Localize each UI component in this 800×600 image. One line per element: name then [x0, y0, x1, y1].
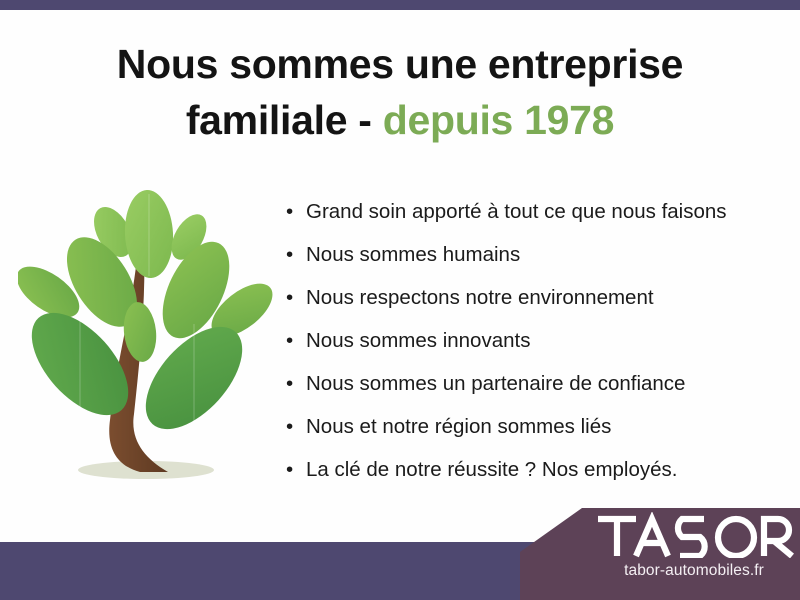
slide-canvas: Nous sommes une entreprise familiale - d…	[0, 0, 800, 600]
tabor-logo-tagline: tabor-automobiles.fr	[596, 562, 792, 580]
bullet-marker-icon: •	[286, 405, 306, 448]
list-item: • Nous respectons notre environnement	[286, 276, 786, 319]
bullet-marker-icon: •	[286, 319, 306, 362]
bullet-marker-icon: •	[286, 276, 306, 319]
list-item: • Nous et notre région sommes liés	[286, 405, 786, 448]
bullet-marker-icon: •	[286, 362, 306, 405]
list-item: • Nous sommes un partenaire de confiance	[286, 362, 786, 405]
headline-line-2-accent: depuis 1978	[383, 97, 614, 143]
headline-line-1: Nous sommes une entreprise	[117, 41, 683, 87]
top-accent-bar	[0, 0, 800, 10]
tree-illustration	[18, 182, 280, 494]
list-item-label: Nous sommes humains	[306, 233, 786, 276]
list-item: • Nous sommes humains	[286, 233, 786, 276]
page-title: Nous sommes une entreprise familiale - d…	[40, 36, 760, 148]
list-item-label: Grand soin apporté à tout ce que nous fa…	[306, 190, 786, 233]
bullet-marker-icon: •	[286, 233, 306, 276]
value-bullet-list: • Grand soin apporté à tout ce que nous …	[286, 190, 786, 491]
list-item: • La clé de notre réussite ? Nos employé…	[286, 448, 786, 491]
headline-line-2-main: familiale -	[186, 97, 383, 143]
list-item-label: Nous sommes innovants	[306, 319, 786, 362]
bullet-marker-icon: •	[286, 448, 306, 491]
list-item: • Grand soin apporté à tout ce que nous …	[286, 190, 786, 233]
list-item: • Nous sommes innovants	[286, 319, 786, 362]
tabor-logo-wordmark	[596, 512, 796, 558]
list-item-label: Nous sommes un partenaire de confiance	[306, 362, 786, 405]
list-item-label: Nous respectons notre environnement	[306, 276, 786, 319]
bullet-marker-icon: •	[286, 190, 306, 233]
list-item-label: Nous et notre région sommes liés	[306, 405, 786, 448]
list-item-label: La clé de notre réussite ? Nos employés.	[306, 448, 786, 491]
